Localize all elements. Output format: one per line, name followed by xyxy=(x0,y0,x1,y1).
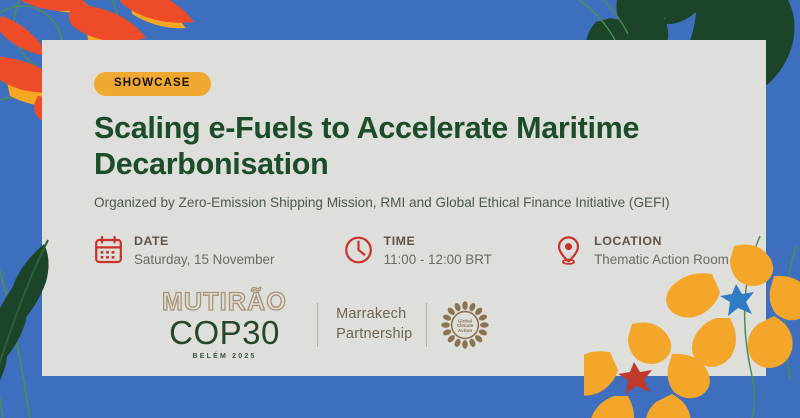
meta-value-time: 11:00 - 12:00 BRT xyxy=(384,251,492,269)
meta-value-date: Saturday, 15 November xyxy=(134,251,274,269)
meta-value-location: Thematic Action Room 4 xyxy=(594,251,740,269)
gca-text-line-3: Action xyxy=(458,328,472,333)
logo-divider-left xyxy=(317,303,318,347)
logo-strip: MUTIRÃO COP30 BELÉM 2025 Marrakech Partn… xyxy=(162,290,489,360)
marrakech-line-2: Partnership xyxy=(336,325,412,345)
meta-label-location: LOCATION xyxy=(594,234,740,250)
cop30-logo: MUTIRÃO COP30 BELÉM 2025 xyxy=(162,290,287,360)
marrakech-line-1: Marrakech xyxy=(336,305,412,325)
calendar-icon xyxy=(94,235,123,265)
global-climate-action-emblem-icon: Global Climate Action xyxy=(441,301,489,349)
cop30-logo-mutirao: MUTIRÃO xyxy=(162,290,287,315)
showcase-badge: SHOWCASE xyxy=(94,72,211,96)
cop30-logo-wordmark: COP30 xyxy=(169,316,280,349)
event-card: SHOWCASE Scaling e-Fuels to Accelerate M… xyxy=(42,40,766,376)
meta-label-date: DATE xyxy=(134,234,274,250)
meta-item-time: TIME 11:00 - 12:00 BRT xyxy=(344,234,554,270)
meta-item-date: DATE Saturday, 15 November xyxy=(94,234,344,270)
meta-text-location: LOCATION Thematic Action Room 4 xyxy=(594,234,740,270)
cop30-logo-belem: BELÉM 2025 xyxy=(193,353,257,360)
clock-icon xyxy=(344,235,373,265)
event-organizers: Organized by Zero-Emission Shipping Miss… xyxy=(94,194,740,212)
location-pin-icon xyxy=(554,235,583,265)
card-content: SHOWCASE Scaling e-Fuels to Accelerate M… xyxy=(94,72,740,269)
meta-text-time: TIME 11:00 - 12:00 BRT xyxy=(384,234,492,270)
meta-label-time: TIME xyxy=(384,234,492,250)
meta-text-date: DATE Saturday, 15 November xyxy=(134,234,274,270)
event-meta-row: DATE Saturday, 15 November TIME 11:00 - … xyxy=(94,234,740,270)
event-title: Scaling e-Fuels to Accelerate Maritime D… xyxy=(94,110,694,183)
poster-canvas: SHOWCASE Scaling e-Fuels to Accelerate M… xyxy=(0,0,800,418)
meta-item-location: LOCATION Thematic Action Room 4 xyxy=(554,234,740,270)
logo-divider-right xyxy=(426,303,427,347)
marrakech-partnership-wordmark: Marrakech Partnership xyxy=(336,305,412,344)
